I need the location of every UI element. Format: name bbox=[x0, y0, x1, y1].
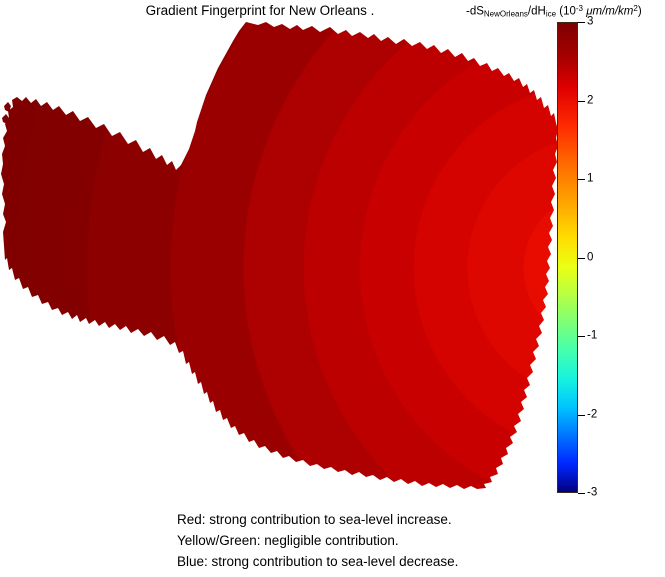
colorbar-ticklabel-0: 0 bbox=[587, 252, 593, 264]
colorbar-label-exponent: -3 bbox=[576, 4, 583, 13]
colorbar-ticklabel-1: 1 bbox=[587, 173, 593, 185]
colorbar-ticklabel-neg3: -3 bbox=[587, 487, 597, 499]
caption-line-red: Red: strong contribution to sea-level in… bbox=[177, 509, 458, 530]
antarctica-map-area bbox=[0, 18, 560, 498]
colorbar-ticklabel-neg2: -2 bbox=[587, 409, 597, 421]
page-title: Gradient Fingerprint for New Orleans . bbox=[0, 3, 520, 19]
antarctica-fingerprint-field bbox=[0, 18, 560, 498]
colorbar-ticklabel-3: 3 bbox=[587, 16, 593, 28]
colorbar-ticklabel-2: 2 bbox=[587, 95, 593, 107]
figure-caption: Red: strong contribution to sea-level in… bbox=[177, 509, 458, 572]
colorbar-gradient-bar bbox=[557, 22, 578, 493]
colorbar-tick-neg3 bbox=[578, 493, 585, 494]
colorbar[interactable]: 3210-1-2-3 bbox=[557, 22, 578, 493]
colorbar-label-close-paren: ) bbox=[638, 6, 642, 18]
caption-line-yellow-green: Yellow/Green: negligible contribution. bbox=[177, 530, 458, 551]
antarctica-fingerprint-map bbox=[0, 18, 560, 498]
colorbar-label-middle: /dH bbox=[528, 6, 546, 18]
colorbar-tick-2 bbox=[578, 101, 585, 102]
colorbar-tick-0 bbox=[578, 258, 585, 259]
colorbar-label-open-paren: (10 bbox=[556, 6, 576, 18]
colorbar-label-prefix: -dS bbox=[466, 6, 484, 18]
colorbar-tick-1 bbox=[578, 179, 585, 180]
colorbar-ticklabel-neg1: -1 bbox=[587, 330, 597, 342]
caption-line-blue: Blue: strong contribution to sea-level d… bbox=[177, 551, 458, 572]
colorbar-tick-neg2 bbox=[578, 415, 585, 416]
colorbar-tick-3 bbox=[578, 22, 585, 23]
colorbar-tick-neg1 bbox=[578, 336, 585, 337]
